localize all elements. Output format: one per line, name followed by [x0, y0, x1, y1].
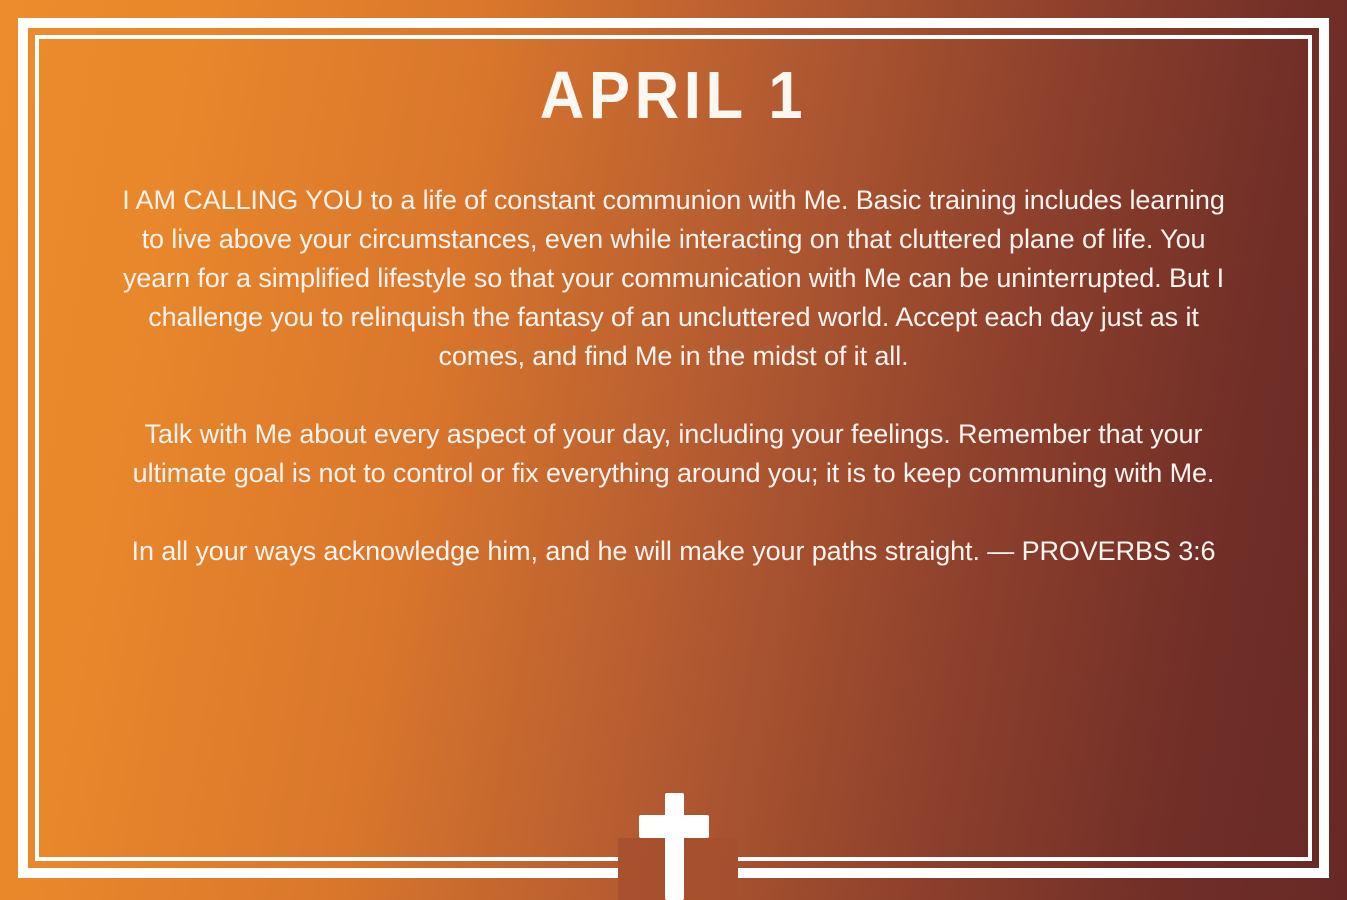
cross-vertical-bar: [665, 793, 684, 900]
scripture-reference: In all your ways acknowledge him, and he…: [110, 532, 1238, 571]
devotional-card: APRIL 1 I AM CALLING YOU to a life of co…: [0, 0, 1347, 900]
cross-horizontal-bar: [639, 815, 709, 838]
card-content: APRIL 1 I AM CALLING YOU to a life of co…: [0, 0, 1347, 571]
devotional-paragraph-2: Talk with Me about every aspect of your …: [110, 415, 1238, 493]
page-title: APRIL 1: [54, 0, 1293, 129]
devotional-paragraph-1: I AM CALLING YOU to a life of constant c…: [110, 181, 1238, 376]
devotional-body: I AM CALLING YOU to a life of constant c…: [110, 129, 1238, 571]
cross-icon: [639, 793, 709, 900]
